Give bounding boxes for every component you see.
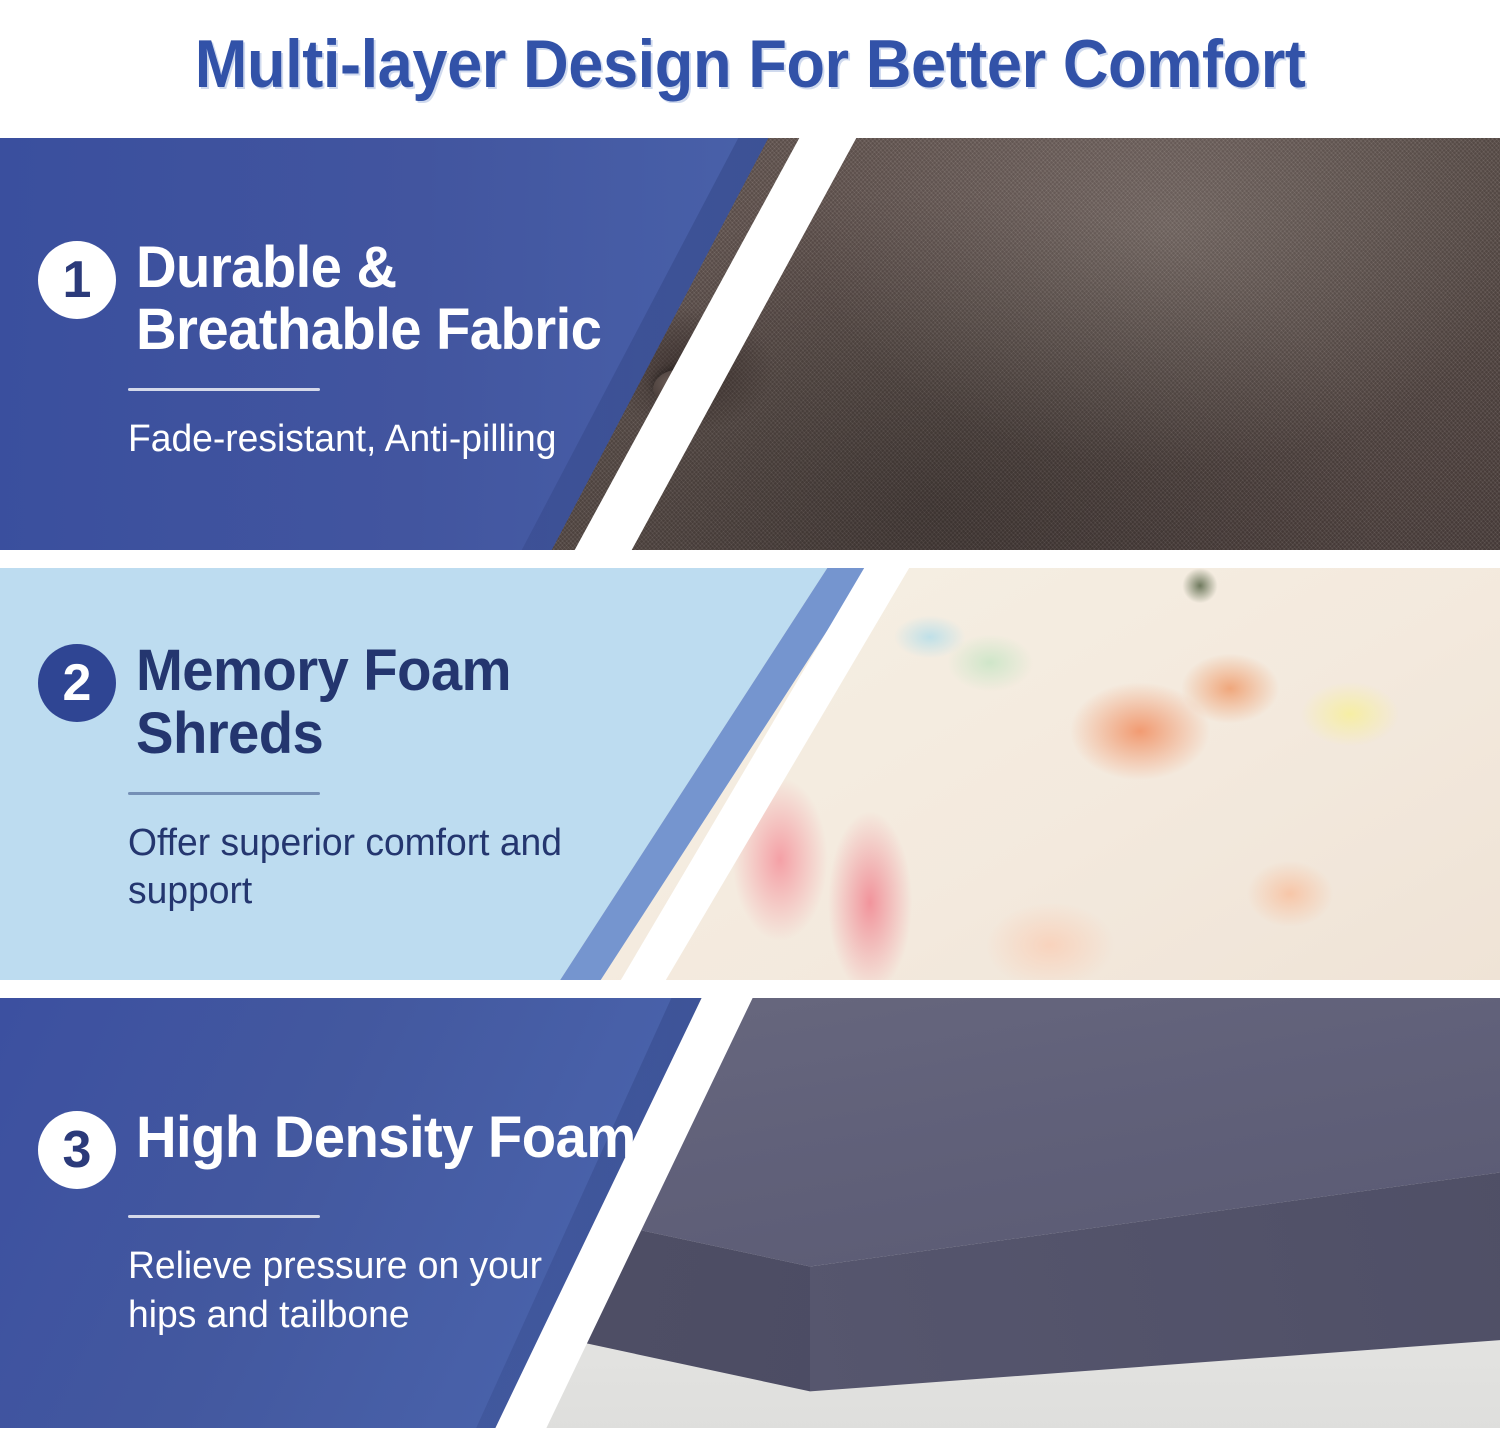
panel-3-heading: High Density Foam (136, 1107, 636, 1170)
panel-1-content: 1 Durable & Breathable Fabric Fade-resis… (38, 130, 658, 558)
panel-2-body-text: Offer superior comfort and support (128, 819, 618, 916)
panel-1-divider (128, 388, 320, 391)
feature-panel-1: 1 Durable & Breathable Fabric Fade-resis… (0, 130, 1500, 558)
panel-2-heading-row: 2 Memory Foam Shreds (38, 640, 658, 765)
panel-1-body-text: Fade-resistant, Anti-pilling (128, 415, 618, 464)
panel-1-heading-row: 1 Durable & Breathable Fabric (38, 237, 658, 362)
page-title: Multi-layer Design For Better Comfort (195, 25, 1306, 103)
panel-3-content: 3 High Density Foam Relieve pressure on … (38, 990, 658, 1436)
step-number-badge-2: 2 (38, 644, 116, 722)
feature-panel-3: 3 High Density Foam Relieve pressure on … (0, 990, 1500, 1436)
infographic-page: Multi-layer Design For Better Comfort 1 … (0, 0, 1500, 1436)
page-title-bar: Multi-layer Design For Better Comfort (0, 0, 1500, 128)
panel-1-heading: Durable & Breathable Fabric (136, 237, 642, 362)
step-number-badge-3: 3 (38, 1111, 116, 1189)
panel-3-heading-row: 3 High Density Foam (38, 1107, 658, 1189)
panel-2-heading: Memory Foam Shreds (136, 640, 642, 765)
panel-2-divider (128, 792, 320, 795)
panel-2-content: 2 Memory Foam Shreds Offer superior comf… (38, 560, 658, 988)
feature-panel-2: 2 Memory Foam Shreds Offer superior comf… (0, 560, 1500, 988)
step-number-badge-1: 1 (38, 241, 116, 319)
panel-3-body-text: Relieve pressure on your hips and tailbo… (128, 1242, 618, 1339)
panel-3-divider (128, 1215, 320, 1218)
